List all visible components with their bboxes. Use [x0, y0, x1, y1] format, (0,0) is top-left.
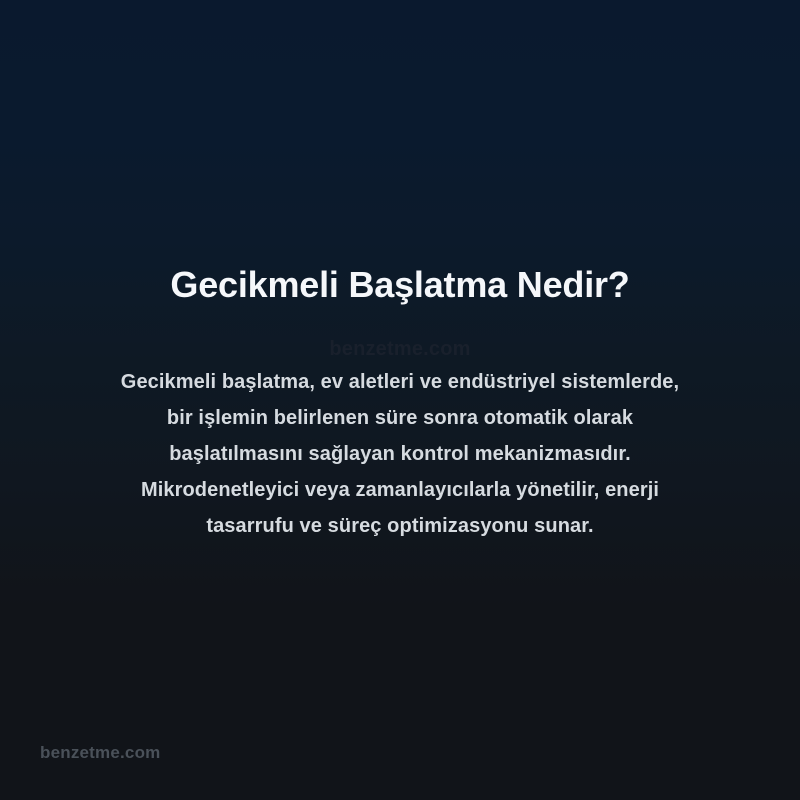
page-title: Gecikmeli Başlatma Nedir? [0, 263, 800, 307]
info-card: benzetme.com Gecikmeli Başlatma Nedir? G… [0, 0, 800, 800]
description-line: Mikrodenetleyici veya zamanlayıcılarla y… [50, 472, 750, 508]
description-line: tasarrufu ve süreç optimizasyonu sunar. [50, 508, 750, 544]
description-line: bir işlemin belirlenen süre sonra otomat… [50, 400, 750, 436]
description-line: başlatılmasını sağlayan kontrol mekanizm… [50, 436, 750, 472]
center-watermark: benzetme.com [0, 338, 800, 361]
description-line: Gecikmeli başlatma, ev aletleri ve endüs… [50, 364, 750, 400]
description-paragraph: Gecikmeli başlatma, ev aletleri ve endüs… [50, 364, 750, 544]
footer-watermark: benzetme.com [40, 742, 161, 764]
